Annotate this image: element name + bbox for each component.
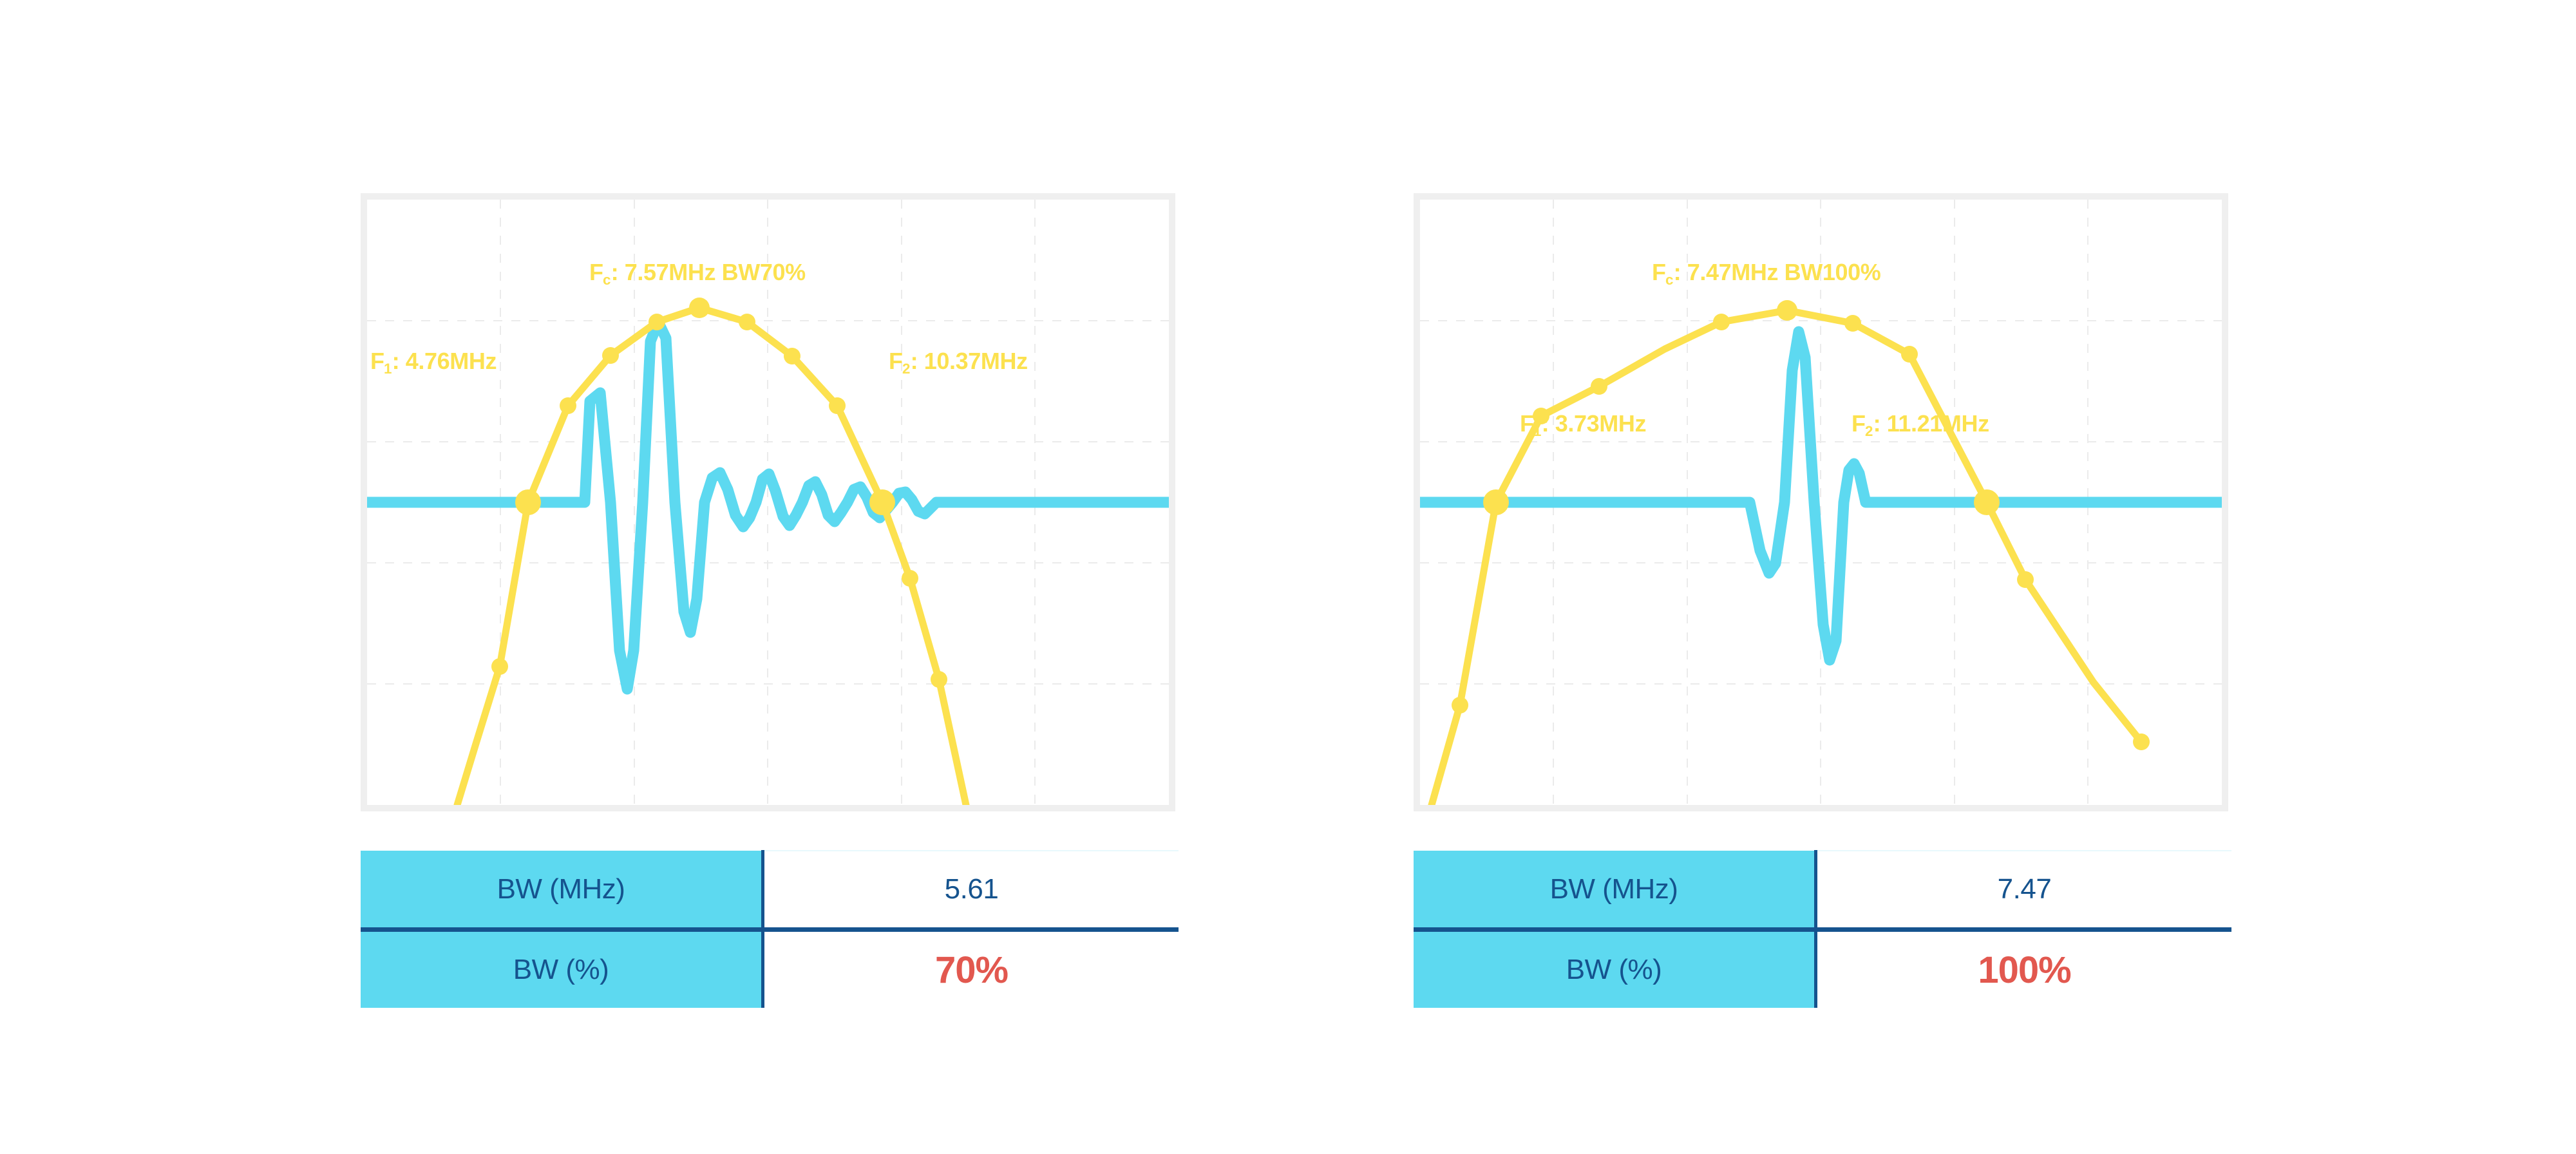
f2-subscript-right: 2: [1865, 423, 1873, 439]
table-row: BW (%) 100%: [1414, 930, 2231, 1008]
f2-prefix-left: F: [889, 348, 903, 374]
table-row: BW (MHz) 7.47: [1414, 851, 2231, 930]
f1-subscript-left: 1: [384, 361, 392, 377]
fc-subscript-left: c: [603, 272, 611, 288]
bw-table-right: BW (MHz) 7.47 BW (%) 100%: [1414, 850, 2231, 1008]
f1-subscript-right: 1: [1533, 423, 1541, 439]
f1-marker-left: [515, 489, 541, 515]
annotation-fc-left: Fc: 7.57MHz BW70%: [589, 261, 806, 284]
f2-subscript-left: 2: [902, 361, 910, 377]
plot-frame-right: Fc: 7.47MHz BW100% F1: 3.73MHz F2: 11.21…: [1414, 193, 2228, 811]
f1-prefix-right: F: [1520, 410, 1534, 437]
chart-right: [1420, 200, 2222, 805]
f2-marker-left: [869, 489, 895, 515]
f1-prefix-left: F: [370, 348, 384, 374]
f1-value-right: : 3.73MHz: [1542, 410, 1646, 437]
annotation-f2-left: F2: 10.37MHz: [889, 350, 1028, 373]
chart-left: [367, 200, 1169, 805]
fc-value-right: : 7.47MHz BW100%: [1674, 259, 1881, 285]
bw-mhz-label-left: BW (MHz): [361, 851, 763, 930]
table-row: BW (MHz) 5.61: [361, 851, 1179, 930]
f1-marker-right: [1483, 489, 1509, 515]
fc-prefix-left: F: [589, 259, 603, 285]
annotation-f1-left: F1: 4.76MHz: [370, 350, 497, 373]
f2-prefix-right: F: [1851, 410, 1866, 437]
bw-mhz-value-left: 5.61: [763, 851, 1179, 930]
f2-value-left: : 10.37MHz: [911, 348, 1028, 374]
annotation-f1-right: F1: 3.73MHz: [1520, 412, 1646, 435]
annotation-fc-right: Fc: 7.47MHz BW100%: [1652, 261, 1880, 284]
bw-pct-value-left: 70%: [763, 930, 1179, 1008]
fc-prefix-right: F: [1652, 259, 1666, 285]
bw-pct-value-right: 100%: [1816, 930, 2232, 1008]
f1-value-left: : 4.76MHz: [392, 348, 497, 374]
bw-table-left: BW (MHz) 5.61 BW (%) 70%: [361, 850, 1179, 1008]
figure-canvas: Fc: 7.57MHz BW70% F1: 4.76MHz F2: 10.37M…: [0, 0, 2576, 1154]
f2-marker-right: [1974, 489, 2000, 515]
bw-pct-label-right: BW (%): [1414, 930, 1816, 1008]
spectrum-curve-left: [457, 308, 966, 805]
annotation-f2-right: F2: 11.21MHz: [1851, 412, 1989, 435]
fc-subscript-right: c: [1665, 272, 1673, 288]
bw-mhz-label-right: BW (MHz): [1414, 851, 1816, 930]
panel-right: Fc: 7.47MHz BW100% F1: 3.73MHz F2: 11.21…: [1414, 193, 2228, 811]
panel-left: Fc: 7.57MHz BW70% F1: 4.76MHz F2: 10.37M…: [361, 193, 1175, 811]
bw-mhz-value-right: 7.47: [1816, 851, 2232, 930]
plot-frame-left: Fc: 7.57MHz BW70% F1: 4.76MHz F2: 10.37M…: [361, 193, 1175, 811]
bw-pct-label-left: BW (%): [361, 930, 763, 1008]
table-row: BW (%) 70%: [361, 930, 1179, 1008]
fc-value-left: : 7.57MHz BW70%: [611, 259, 806, 285]
f2-value-right: : 11.21MHz: [1873, 410, 1989, 437]
